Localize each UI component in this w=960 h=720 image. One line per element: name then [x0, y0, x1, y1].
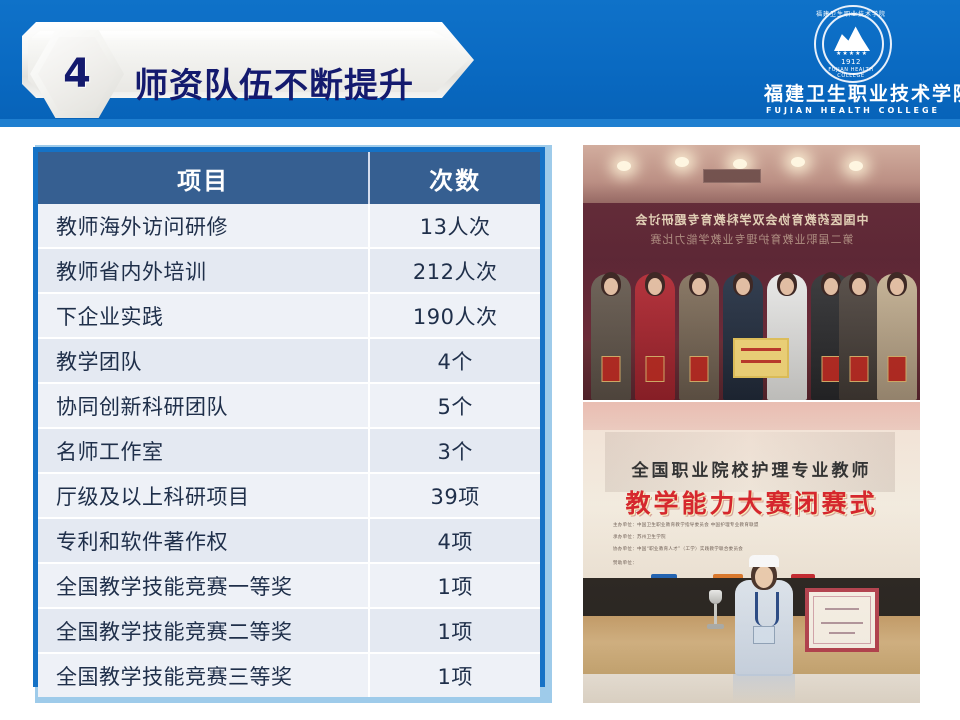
cell-item: 厅级及以上科研项目 — [38, 473, 369, 518]
person-face — [852, 278, 866, 295]
cell-item: 协同创新科研团队 — [38, 383, 369, 428]
cell-item: 全国教学技能竞赛一等奖 — [38, 563, 369, 608]
cell-count: 1项 — [369, 608, 540, 653]
cell-item: 下企业实践 — [38, 293, 369, 338]
certificate-text-line — [821, 622, 863, 624]
cell-count: 39项 — [369, 473, 540, 518]
person-face — [736, 278, 750, 295]
table-header-row: 项目 次数 — [38, 152, 540, 204]
cell-item: 教学团队 — [38, 338, 369, 383]
title-plaque: 4 师资队伍不断提升 — [22, 22, 474, 98]
college-emblem-icon: 福建卫生职业技术学院 ★★★★★ 1912 FUJIAN HEALTH COLL… — [814, 5, 892, 83]
red-certificate — [822, 356, 841, 382]
nurse-cap-icon — [749, 555, 779, 567]
competition-subline-3: 协办单位：中国“职业教育人才”（工学）实践教学联合委员会 — [613, 546, 893, 552]
certificate-text-line — [825, 608, 859, 610]
person-figure — [767, 274, 807, 400]
floor-reflection — [733, 674, 795, 703]
name-badge — [753, 626, 775, 644]
cell-item: 全国教学技能竞赛二等奖 — [38, 608, 369, 653]
table-row: 专利和软件著作权4项 — [38, 518, 540, 563]
award-plaque — [733, 338, 789, 378]
table-row: 全国教学技能竞赛一等奖1项 — [38, 563, 540, 608]
cell-count: 3个 — [369, 428, 540, 473]
slide-root: 4 师资队伍不断提升 福建卫生职业技术学院 ★★★★★ 1912 FUJIAN … — [0, 0, 960, 720]
person-face — [648, 278, 662, 295]
person-figure — [723, 274, 763, 400]
stats-table: 项目 次数 教师海外访问研修13人次教师省内外培训212人次下企业实践190人次… — [38, 152, 540, 697]
person-face — [890, 278, 904, 295]
cell-count: 4个 — [369, 338, 540, 383]
wall-sign — [703, 169, 761, 183]
cell-item: 全国教学技能竞赛三等奖 — [38, 653, 369, 697]
emblem-year: 1912 — [814, 58, 888, 66]
table-row: 厅级及以上科研项目39项 — [38, 473, 540, 518]
lanyard — [755, 592, 779, 626]
emblem-arc-en: FUJIAN HEALTH COLLEGE — [814, 67, 888, 79]
stats-table-body: 教师海外访问研修13人次教师省内外培训212人次下企业实践190人次教学团队4个… — [38, 204, 540, 697]
emblem-stars-icon: ★★★★★ — [830, 51, 874, 57]
table-row: 教师海外访问研修13人次 — [38, 204, 540, 248]
ceiling-light-icon — [791, 157, 805, 167]
competition-subline-2: 承办单位：苏州卫生学院 — [613, 534, 893, 540]
nurse-face — [755, 566, 773, 588]
certificate-text-line — [829, 632, 855, 634]
cell-item: 名师工作室 — [38, 428, 369, 473]
cell-item: 教师海外访问研修 — [38, 204, 369, 248]
person-figure — [635, 274, 675, 400]
red-certificate — [690, 356, 709, 382]
certificate-border — [813, 596, 871, 644]
banner-text-line2: 第二届职业教育护理专业教学能力比赛 — [589, 231, 914, 247]
photo-nursing-competition: 全国职业院校护理专业教师 教学能力大赛闭赛式 主办单位：中国卫生职业教育教学指导… — [583, 402, 920, 703]
header-underline-white — [0, 127, 960, 130]
table-row: 名师工作室3个 — [38, 428, 540, 473]
ceiling-light-icon — [675, 157, 689, 167]
table-row: 全国教学技能竞赛二等奖1项 — [38, 608, 540, 653]
cell-item: 教师省内外培训 — [38, 248, 369, 293]
person-figure — [877, 274, 917, 400]
college-name-cn: 福建卫生职业技术学院 — [764, 84, 942, 105]
person-figure — [839, 274, 879, 400]
table-row: 全国教学技能竞赛三等奖1项 — [38, 653, 540, 697]
college-name-en: FUJIAN HEALTH COLLEGE — [764, 106, 942, 115]
trophy-base — [707, 624, 724, 629]
red-certificate — [850, 356, 869, 382]
table-row: 教师省内外培训212人次 — [38, 248, 540, 293]
cell-count: 1项 — [369, 653, 540, 697]
stats-table-frame: 项目 次数 教师海外访问研修13人次教师省内外培训212人次下企业实践190人次… — [33, 147, 545, 687]
certificate — [805, 588, 879, 652]
red-certificate — [602, 356, 621, 382]
red-certificate — [888, 356, 907, 382]
cell-item: 专利和软件著作权 — [38, 518, 369, 563]
cell-count: 212人次 — [369, 248, 540, 293]
section-number: 4 — [38, 37, 116, 111]
trophy-stem — [714, 604, 717, 624]
column-header-count: 次数 — [369, 152, 540, 204]
cell-count: 5个 — [369, 383, 540, 428]
ceiling-light-icon — [849, 161, 863, 171]
emblem-arc-cn: 福建卫生职业技术学院 — [814, 9, 888, 18]
table-row: 下企业实践190人次 — [38, 293, 540, 338]
plaque-text-line — [741, 360, 781, 363]
competition-subline-1: 主办单位：中国卫生职业教育教学指导委员会 中国护理专业教育联盟 — [613, 522, 893, 528]
cell-count: 13人次 — [369, 204, 540, 248]
person-figure — [591, 274, 631, 400]
plaque-text-line — [741, 348, 781, 351]
competition-banner-line2: 教学能力大赛闭赛式 — [583, 484, 920, 520]
ceiling-light-icon — [733, 159, 747, 169]
person-face — [780, 278, 794, 295]
page-title: 师资队伍不断提升 — [134, 46, 464, 118]
stats-table-head: 项目 次数 — [38, 152, 540, 204]
person-face — [824, 278, 838, 295]
cell-count: 190人次 — [369, 293, 540, 338]
competition-banner-line1: 全国职业院校护理专业教师 — [583, 456, 920, 481]
table-row: 协同创新科研团队5个 — [38, 383, 540, 428]
ceiling-light-icon — [617, 161, 631, 171]
red-certificate — [646, 356, 665, 382]
column-header-item: 项目 — [38, 152, 369, 204]
cell-count: 1项 — [369, 563, 540, 608]
table-row: 教学团队4个 — [38, 338, 540, 383]
person-face — [692, 278, 706, 295]
cell-count: 4项 — [369, 518, 540, 563]
banner-text-line1: 中国医药教育协会双学科教育专题研讨会 — [589, 211, 914, 228]
trophy-icon — [709, 590, 722, 604]
person-figure — [679, 274, 719, 400]
person-face — [604, 278, 618, 295]
college-logo: 福建卫生职业技术学院 ★★★★★ 1912 FUJIAN HEALTH COLL… — [764, 4, 942, 122]
photo-award-group: 中国医药教育协会双学科教育专题研讨会 第二届职业教育护理专业教学能力比赛 — [583, 145, 920, 400]
